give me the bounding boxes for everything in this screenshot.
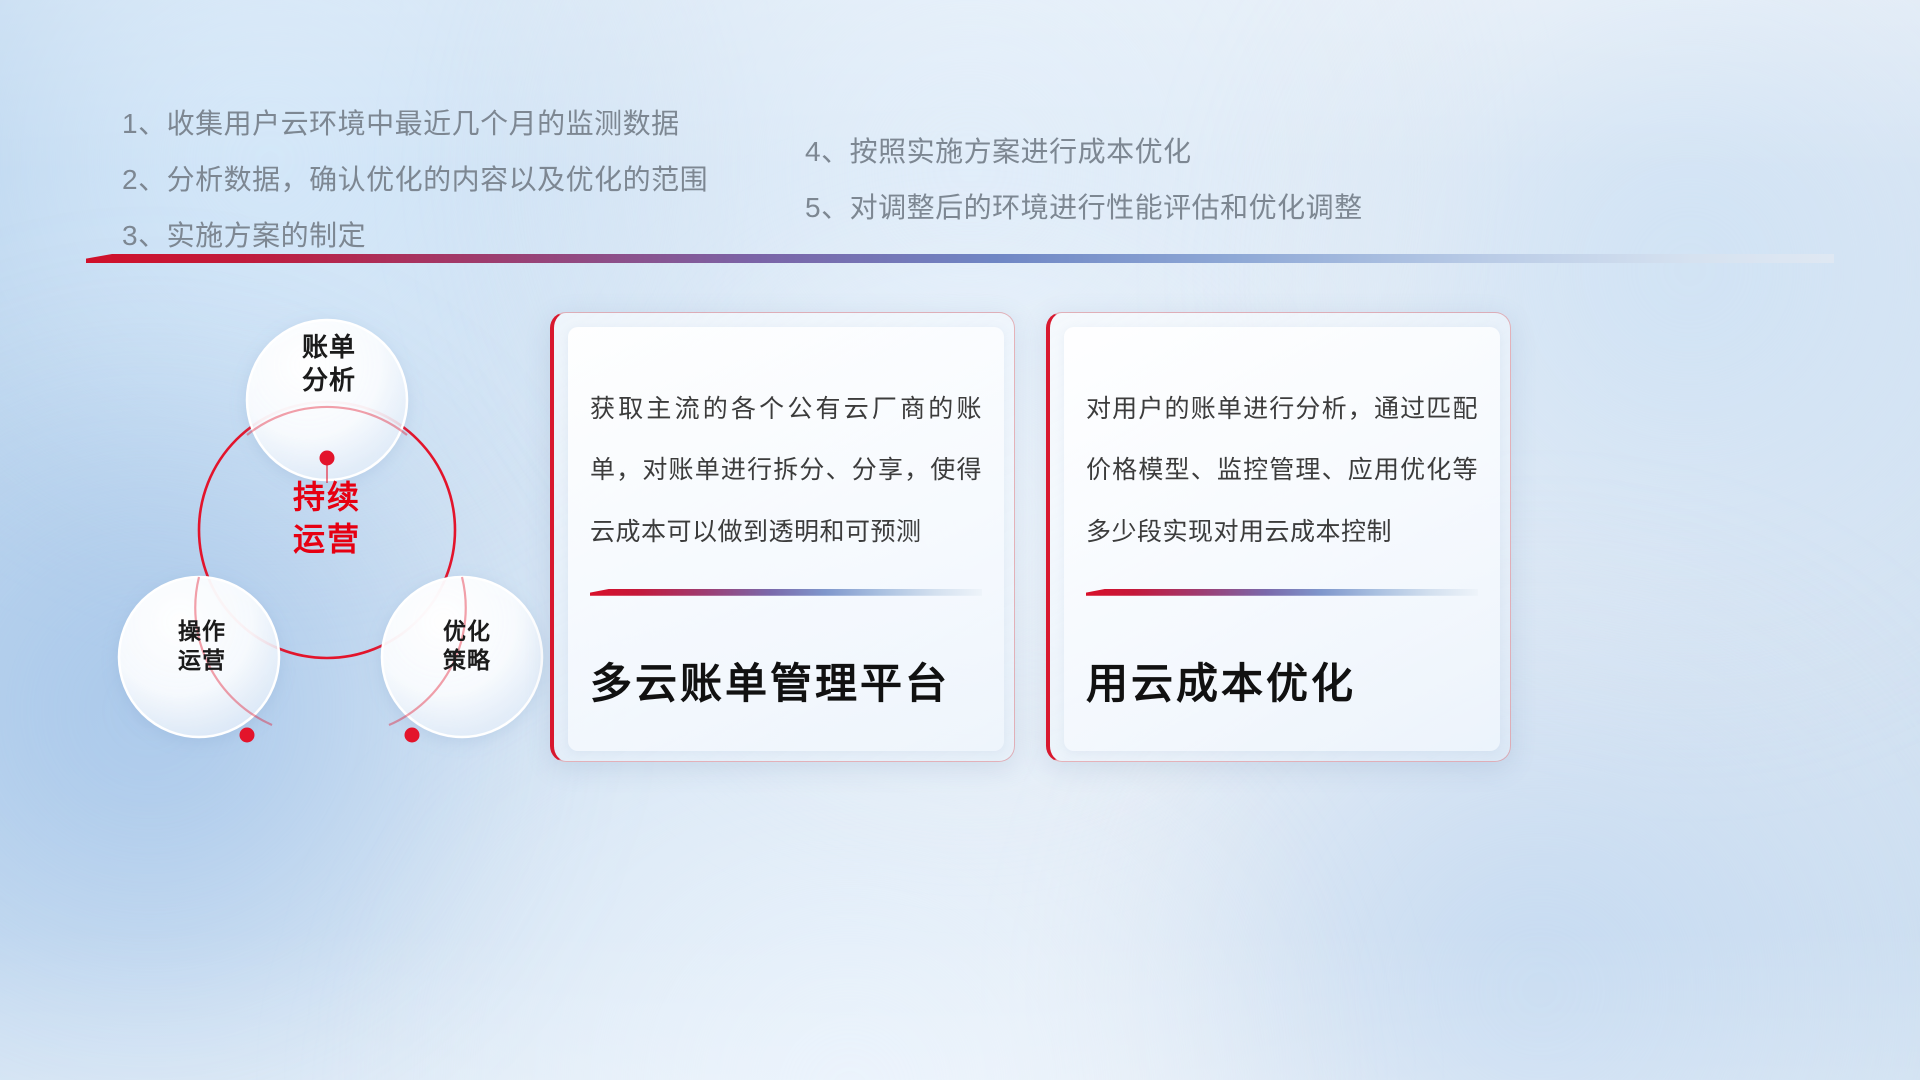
node-label-billing: 账单 分析 [254,331,404,398]
connector-dot [405,728,420,743]
connector-dot [320,451,335,466]
card-title: 多云账单管理平台 [568,650,1004,751]
card-inner: 获取主流的各个公有云厂商的账单，对账单进行拆分、分享，使得云成本可以做到透明和可… [568,327,1004,751]
continuous-operation-diagram: 账单 分析 操作 运营 优化 策略 持续 运营 [72,285,552,780]
connector-dot [240,728,255,743]
node-label-strategy: 优化 策略 [397,617,537,676]
card-title: 用云成本优化 [1064,650,1500,751]
step-item: 2、分析数据，确认优化的内容以及优化的范围 [122,152,708,208]
step-item: 4、按照实施方案进行成本优化 [805,124,1363,180]
info-card-billing-platform[interactable]: 获取主流的各个公有云厂商的账单，对账单进行拆分、分享，使得云成本可以做到透明和可… [550,312,1015,762]
step-item: 5、对调整后的环境进行性能评估和优化调整 [805,180,1363,236]
steps-list-right: 4、按照实施方案进行成本优化 5、对调整后的环境进行性能评估和优化调整 [805,124,1363,236]
card-inner: 对用户的账单进行分析，通过匹配价格模型、监控管理、应用优化等多少段实现对用云成本… [1064,327,1500,751]
card-divider [1086,589,1478,596]
step-item: 1、收集用户云环境中最近几个月的监测数据 [122,96,708,152]
card-description: 获取主流的各个公有云厂商的账单，对账单进行拆分、分享，使得云成本可以做到透明和可… [568,327,1004,563]
section-divider [86,254,1834,263]
steps-list-left: 1、收集用户云环境中最近几个月的监测数据 2、分析数据，确认优化的内容以及优化的… [122,96,708,264]
diagram-center-label: 持续 运营 [247,477,407,560]
node-label-operate: 操作 运营 [132,617,272,676]
card-divider [590,589,982,596]
card-description: 对用户的账单进行分析，通过匹配价格模型、监控管理、应用优化等多少段实现对用云成本… [1064,327,1500,563]
info-card-cost-optimization[interactable]: 对用户的账单进行分析，通过匹配价格模型、监控管理、应用优化等多少段实现对用云成本… [1046,312,1511,762]
